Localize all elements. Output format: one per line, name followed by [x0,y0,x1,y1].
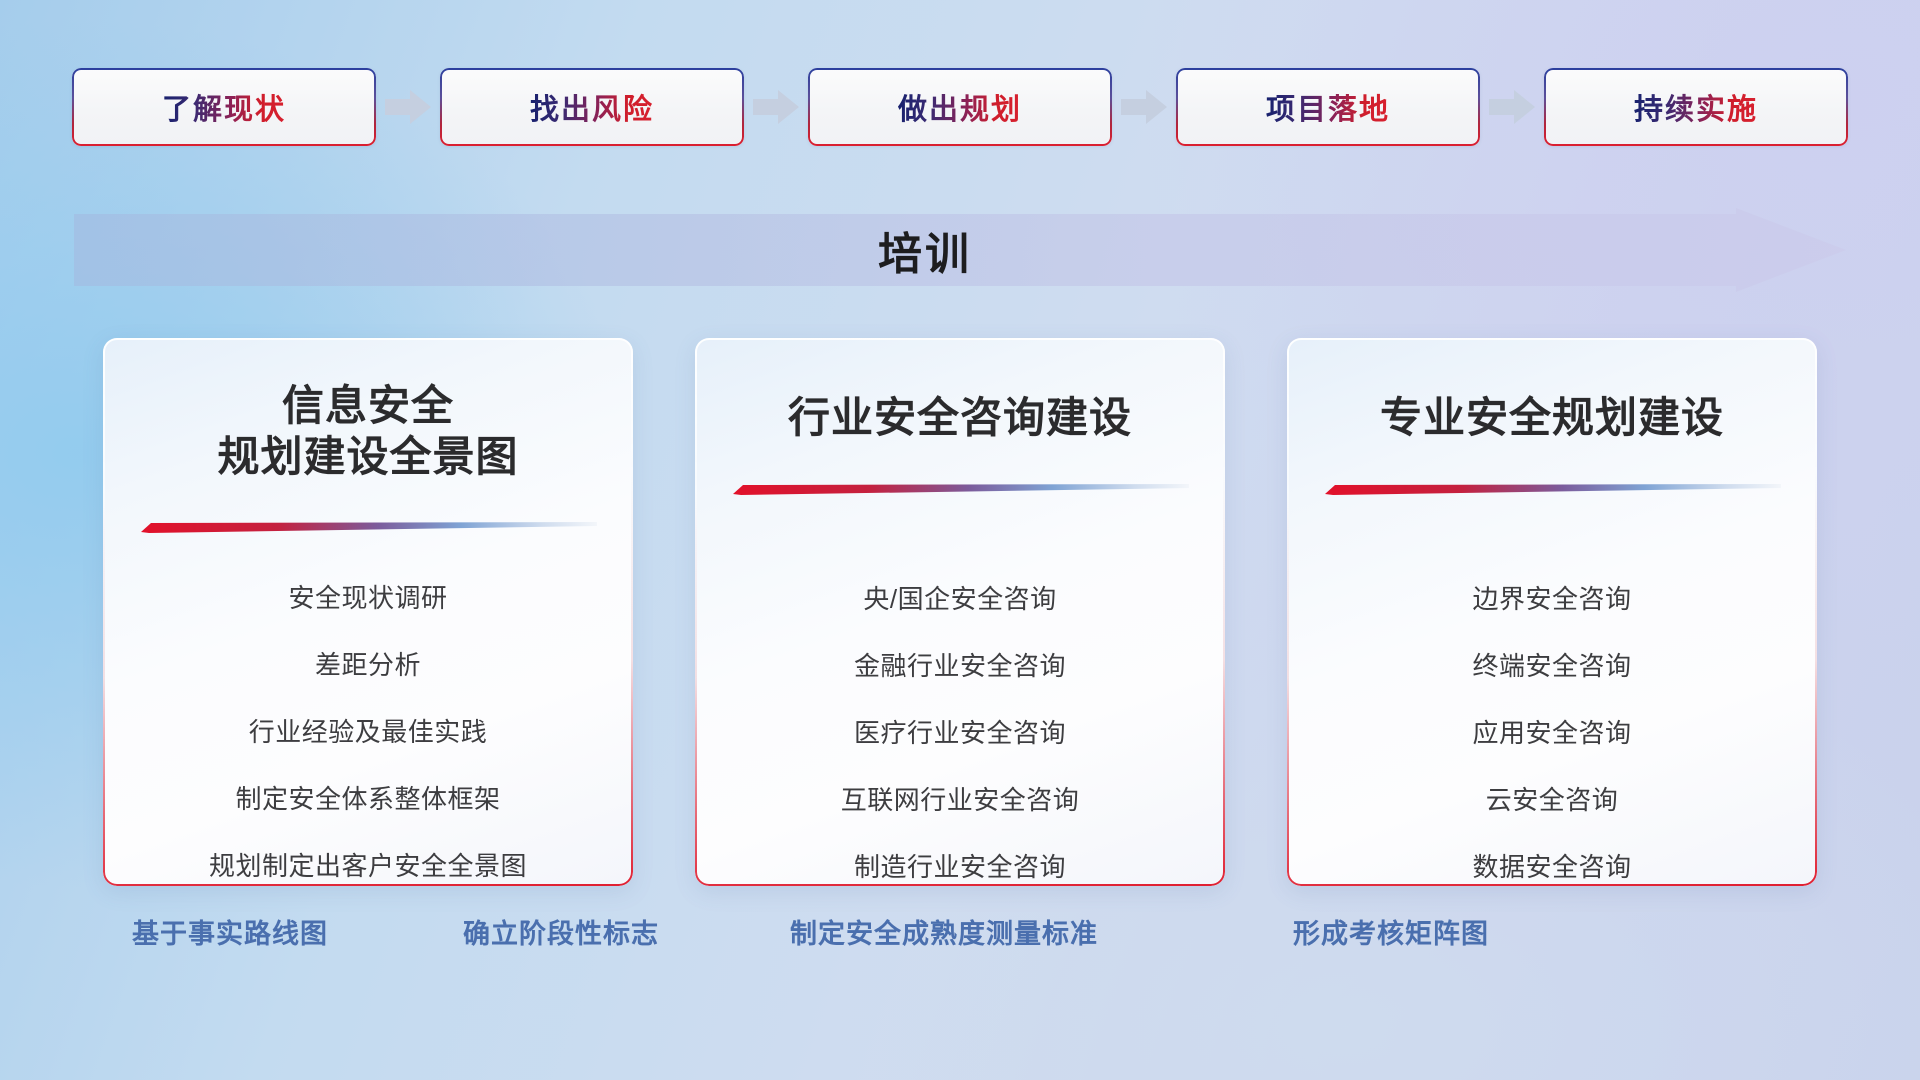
step-label-1: 了解现状 [162,86,286,128]
banner-title: 培训 [74,208,1846,292]
step-box-3[interactable]: 做出规划 [808,68,1112,146]
list-item: 终端安全咨询 [1287,653,1817,679]
arrow-right-icon [1480,68,1544,146]
card-item-list: 边界安全咨询 终端安全咨询 应用安全咨询 云安全咨询 数据安全咨询 [1287,586,1817,880]
step-label-5: 持续实施 [1634,86,1758,128]
card-divider-icon [141,522,597,533]
card-title: 信息安全 规划建设全景图 [103,380,633,482]
step-box-2[interactable]: 找出风险 [440,68,744,146]
step-box-1[interactable]: 了解现状 [72,68,376,146]
list-item: 安全现状调研 [103,585,633,611]
step-box-4[interactable]: 项目落地 [1176,68,1480,146]
card-title: 专业安全规划建设 [1287,392,1817,443]
step-box-5[interactable]: 持续实施 [1544,68,1848,146]
list-item: 差距分析 [103,652,633,678]
slide-canvas: 了解现状 找出风险 做出规划 项目落地 [0,0,1920,1080]
list-item: 金融行业安全咨询 [695,653,1225,679]
card-divider-icon [733,484,1189,495]
list-item: 医疗行业安全咨询 [695,720,1225,746]
card-divider-icon [1325,484,1781,495]
list-item: 规划制定出客户安全全景图 [103,853,633,879]
list-item: 数据安全咨询 [1287,854,1817,880]
caption-assessment-matrix: 形成考核矩阵图 [1293,912,1489,951]
card-item-list: 安全现状调研 差距分析 行业经验及最佳实践 制定安全体系整体框架 规划制定出客户… [103,585,633,879]
caption-row: 基于事实路线图 确立阶段性标志 制定安全成熟度测量标准 形成考核矩阵图 [0,912,1920,966]
card-title: 行业安全咨询建设 [695,392,1225,443]
arrow-right-icon [1112,68,1176,146]
list-item: 云安全咨询 [1287,787,1817,813]
step-label-4: 项目落地 [1266,86,1390,128]
list-item: 边界安全咨询 [1287,586,1817,612]
caption-maturity-scale: 制定安全成熟度测量标准 [790,912,1098,951]
card-professional-security-planning[interactable]: 专业安全规划建设 [1287,338,1817,886]
card-information-security-blueprint[interactable]: 信息安全 规划建设全景图 [103,338,633,886]
step-label-3: 做出规划 [898,86,1022,128]
list-item: 央/国企安全咨询 [695,586,1225,612]
caption-milestones: 确立阶段性标志 [463,912,659,951]
list-item: 制定安全体系整体框架 [103,786,633,812]
caption-roadmap: 基于事实路线图 [132,912,328,951]
training-banner: 培训 [74,208,1846,292]
process-step-flow: 了解现状 找出风险 做出规划 项目落地 [0,66,1920,148]
list-item: 制造行业安全咨询 [695,854,1225,880]
arrow-right-icon [744,68,808,146]
step-label-2: 找出风险 [530,86,654,128]
card-industry-security-consulting[interactable]: 行业安全咨询建设 [695,338,1225,886]
list-item: 应用安全咨询 [1287,720,1817,746]
list-item: 互联网行业安全咨询 [695,787,1225,813]
arrow-right-icon [376,68,440,146]
card-group: 信息安全 规划建设全景图 [0,338,1920,886]
card-item-list: 央/国企安全咨询 金融行业安全咨询 医疗行业安全咨询 互联网行业安全咨询 制造行… [695,586,1225,880]
list-item: 行业经验及最佳实践 [103,719,633,745]
